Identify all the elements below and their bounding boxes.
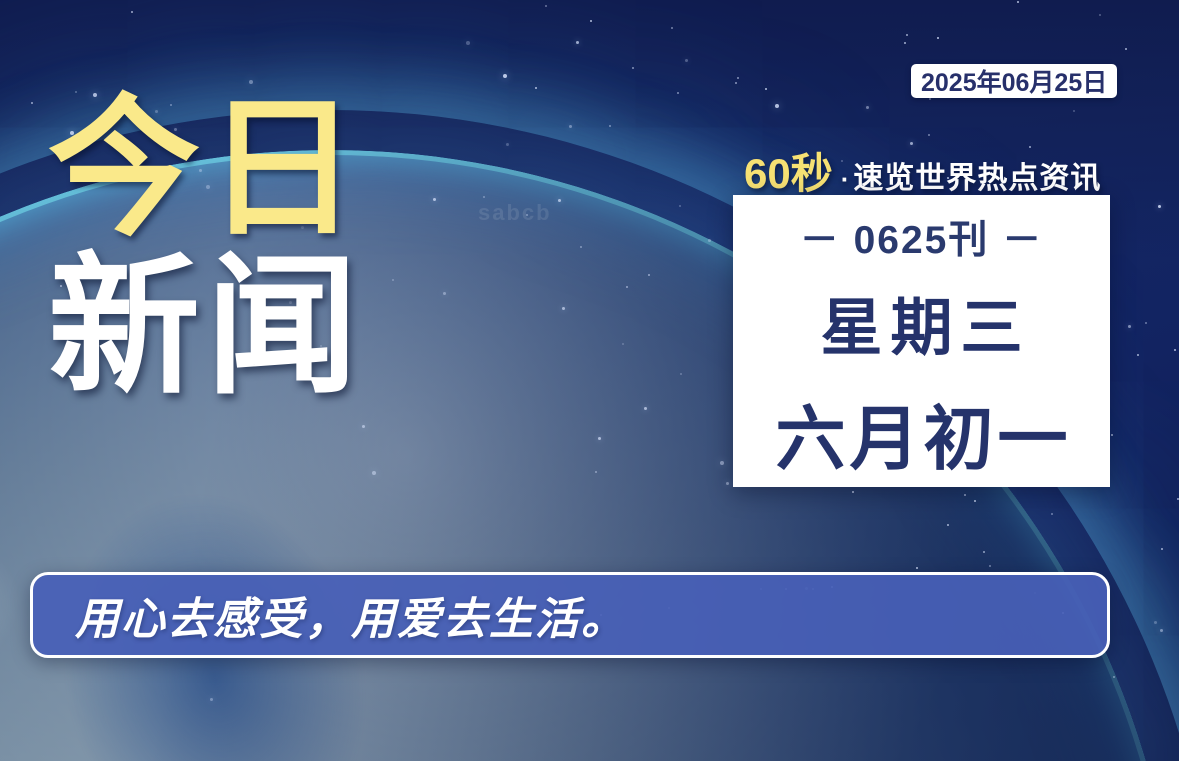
weekday-label: 星期三	[812, 277, 1030, 367]
tagline: 60秒 · 速览世界热点资讯	[744, 140, 1101, 201]
slogan-banner: 用心去感受，用爱去生活。	[30, 572, 1110, 658]
tagline-text: 速览世界热点资讯	[853, 153, 1101, 197]
issue-number: － 0625刊 －	[800, 209, 1043, 265]
headline-line-2: 新闻	[48, 258, 468, 398]
date-badge: 2025年06月25日	[911, 64, 1117, 98]
lunar-date-label: 六月初一	[772, 383, 1072, 484]
news-poster: sabcb 今日 新闻 2025年06月25日 60秒 · 速览世界热点资讯 －…	[0, 0, 1179, 761]
tagline-seconds: 60秒	[744, 140, 833, 201]
issue-card: － 0625刊 － 星期三 六月初一	[733, 195, 1110, 487]
slogan-text: 用心去感受，用爱去生活。	[75, 583, 627, 647]
tagline-separator: ·	[841, 164, 850, 195]
headline-line-1: 今日	[48, 100, 468, 240]
page-title: 今日 新闻	[48, 100, 468, 398]
